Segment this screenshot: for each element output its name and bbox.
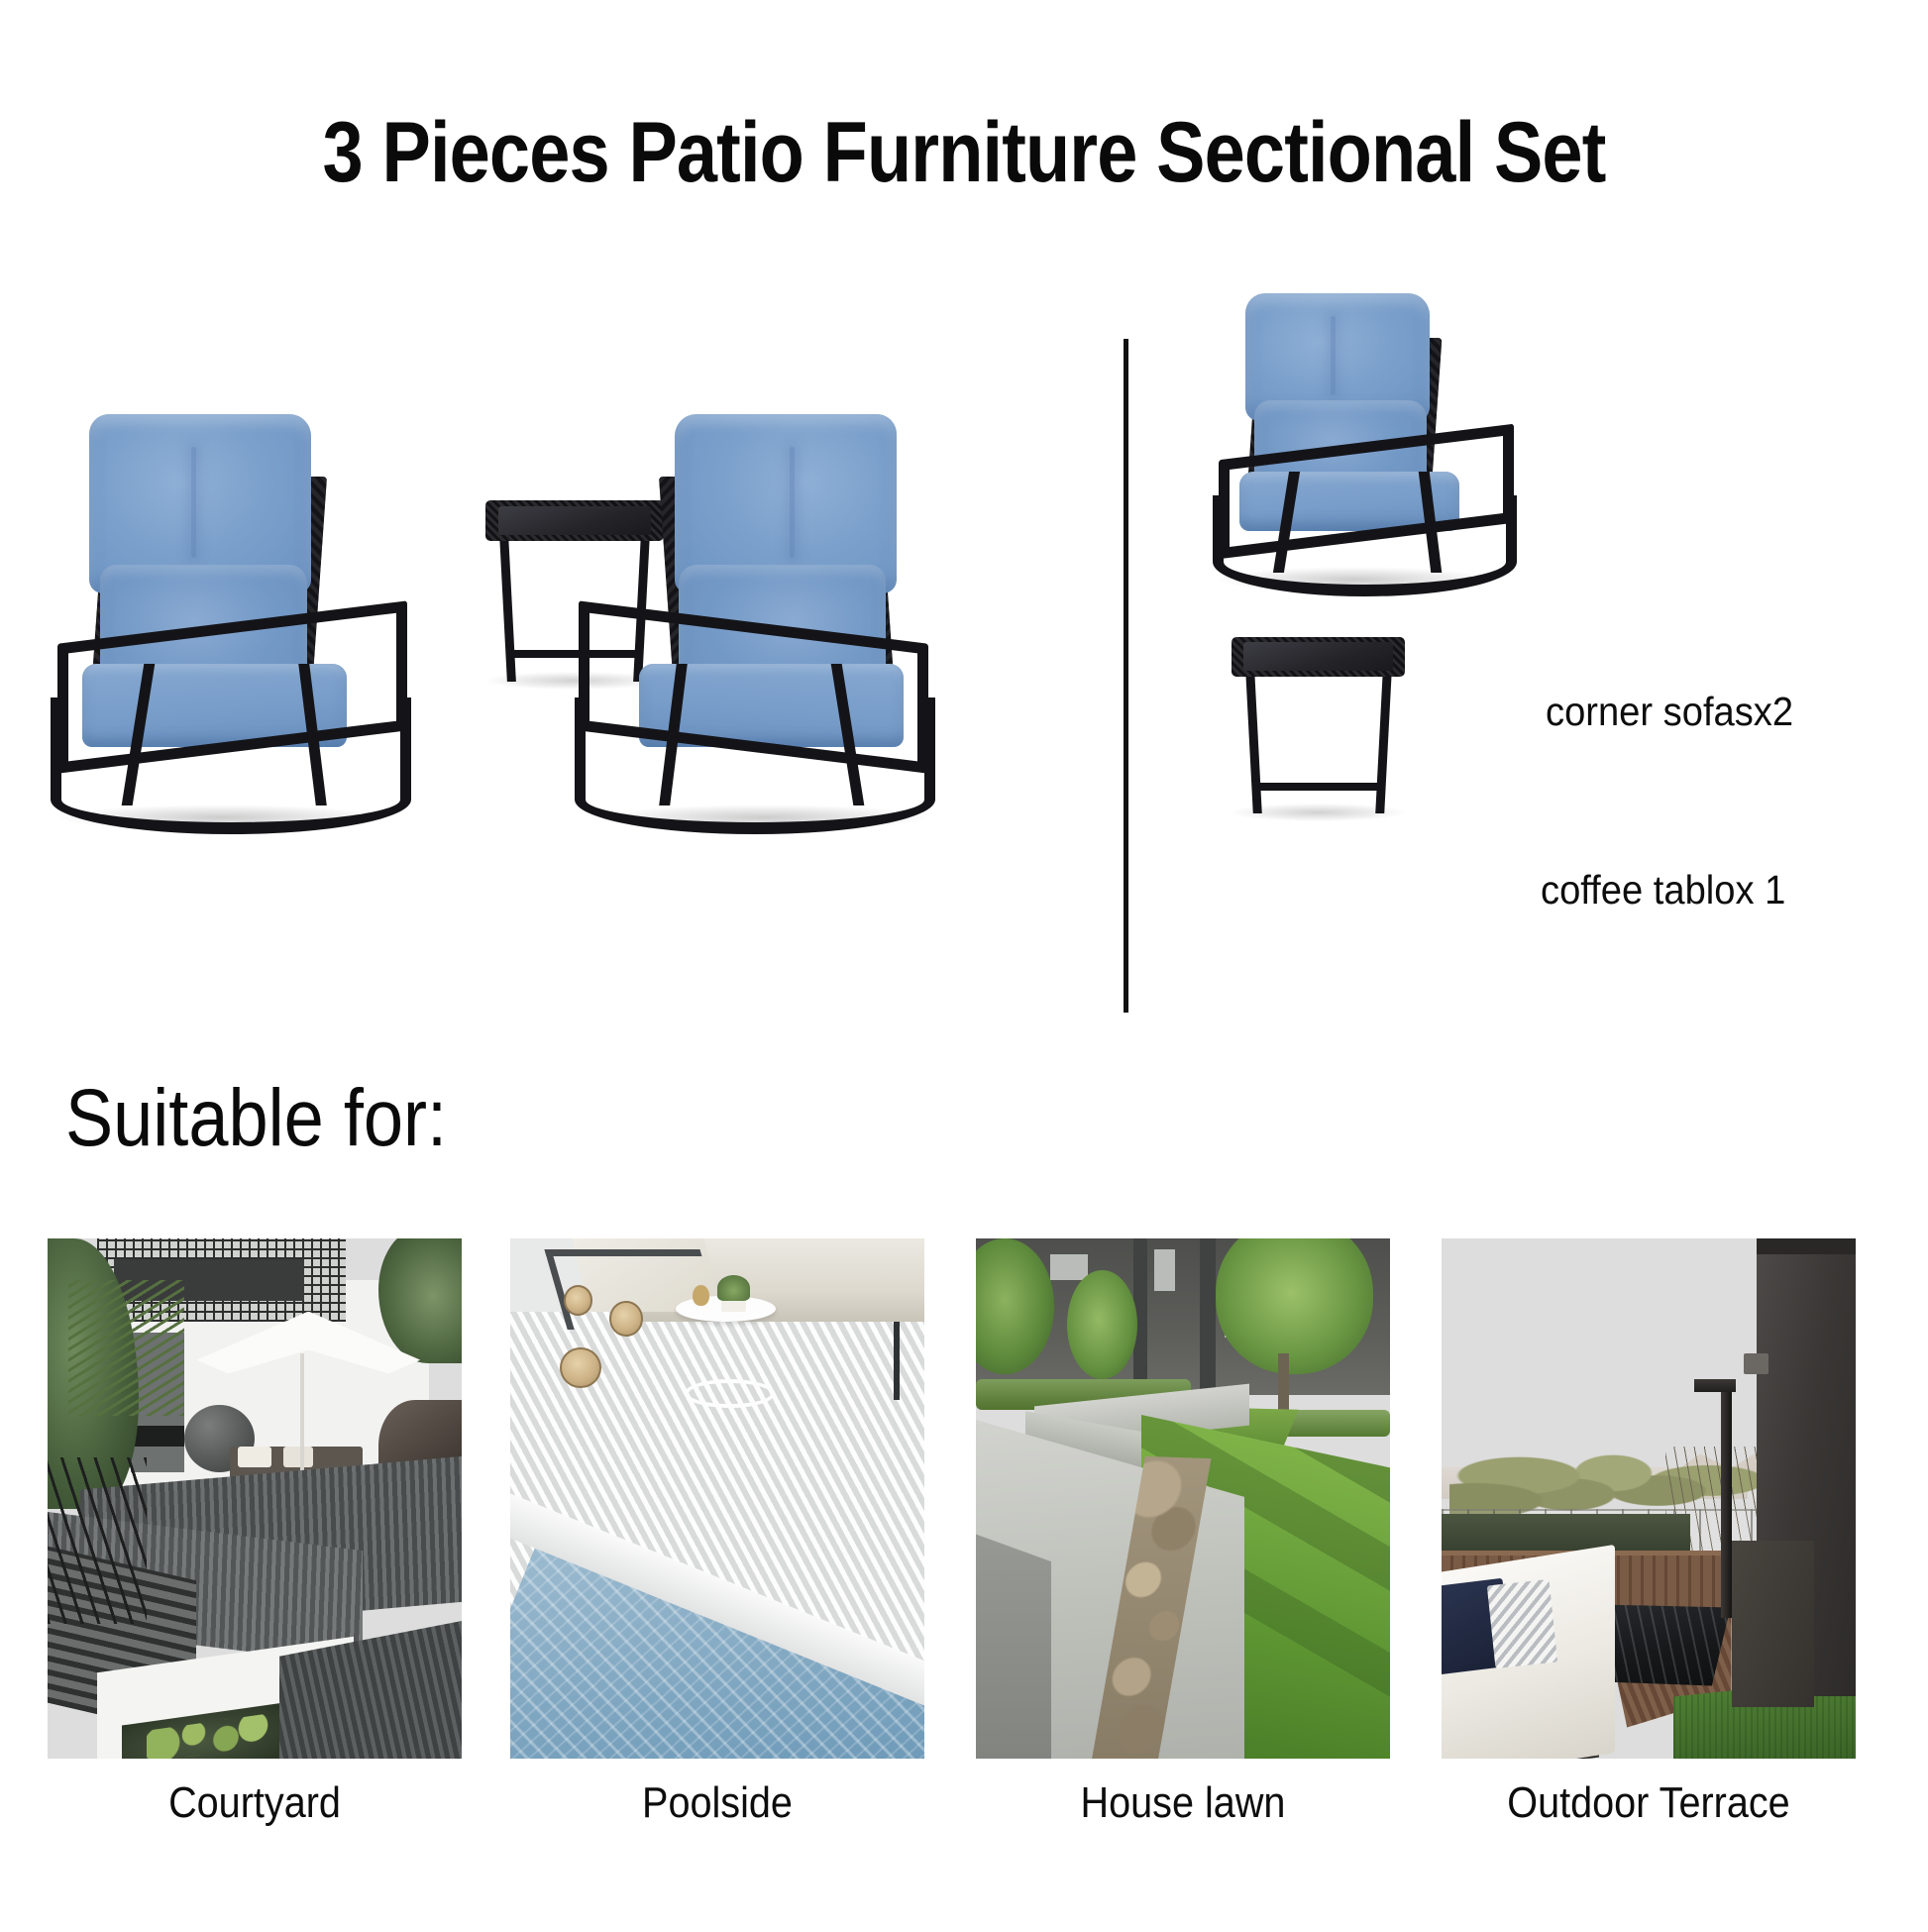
scene-photo-poolside	[510, 1238, 924, 1759]
callout-coffee-table: coffee tablox 1	[1541, 867, 1785, 913]
lawn-window	[1050, 1254, 1088, 1280]
lawn-hedge	[1282, 1410, 1390, 1436]
table-leg-right	[1375, 671, 1392, 813]
scene-card-outdoor-terrace: Outdoor Terrace	[1442, 1238, 1856, 1759]
scene-gallery: Courtyard	[0, 1238, 1928, 1932]
lawn-tree-trunk	[1278, 1353, 1288, 1416]
chair-rocker-base	[51, 698, 411, 834]
table-leg-left	[1245, 671, 1262, 813]
scene-caption-courtyard: Courtyard	[68, 1778, 441, 1828]
rocking-chair-right	[589, 406, 946, 822]
scene-card-courtyard: Courtyard	[48, 1238, 462, 1759]
scene-photo-house-lawn	[976, 1238, 1390, 1759]
table-glass-surface	[1243, 642, 1393, 671]
courtyard-palm-frond	[68, 1280, 184, 1416]
chair-rocker-base	[575, 698, 935, 834]
rocking-chair-left	[40, 406, 396, 822]
table-leg-left	[499, 535, 516, 682]
suitable-for-heading: Suitable for:	[65, 1072, 447, 1165]
poolside-lounger-wheel	[560, 1347, 601, 1388]
terrace-shower-head	[1694, 1379, 1736, 1393]
terrace-dark-wall-lower	[1732, 1541, 1815, 1707]
scene-caption-outdoor-terrace: Outdoor Terrace	[1462, 1778, 1835, 1828]
poolside-decor-object	[693, 1285, 709, 1306]
page-title: 3 Pieces Patio Furniture Sectional Set	[135, 104, 1793, 202]
courtyard-cushion	[283, 1447, 312, 1467]
scene-photo-courtyard	[48, 1238, 462, 1759]
product-infographic: 3 Pieces Patio Furniture Sectional Set	[0, 0, 1928, 1928]
scene-caption-poolside: Poolside	[531, 1778, 904, 1828]
callout-corner-sofa: corner sofasx2	[1546, 689, 1793, 735]
lawn-building-column	[1200, 1238, 1217, 1395]
coffee-table-component	[1232, 637, 1405, 815]
poolside-side-table-lower-ring	[685, 1379, 776, 1408]
table-stretcher	[1252, 783, 1384, 791]
chair-rocker-base	[1213, 495, 1517, 596]
courtyard-cushion	[238, 1447, 270, 1467]
terrace-outdoor-shower-post	[1721, 1379, 1732, 1619]
scene-card-poolside: Poolside	[510, 1238, 924, 1759]
lawn-window	[1154, 1249, 1175, 1291]
corner-sofa-component	[1204, 287, 1501, 585]
vertical-divider	[1124, 339, 1128, 1013]
scene-photo-outdoor-terrace	[1442, 1238, 1856, 1759]
terrace-wall-vent	[1744, 1353, 1768, 1374]
scene-card-house-lawn: House lawn	[976, 1238, 1390, 1759]
lawn-tree	[1067, 1270, 1137, 1379]
courtyard-railing	[48, 1457, 147, 1624]
product-overview-section: corner sofasx2 coffee tablox 1	[0, 277, 1928, 1030]
lawn-tree	[1216, 1238, 1373, 1374]
scene-caption-house-lawn: House lawn	[997, 1778, 1369, 1828]
terrace-wall-cap	[1757, 1238, 1856, 1254]
poolside-potted-plant	[717, 1275, 750, 1301]
terrace-chevron-pillow	[1487, 1578, 1557, 1667]
courtyard-door-shadow	[131, 1426, 184, 1447]
